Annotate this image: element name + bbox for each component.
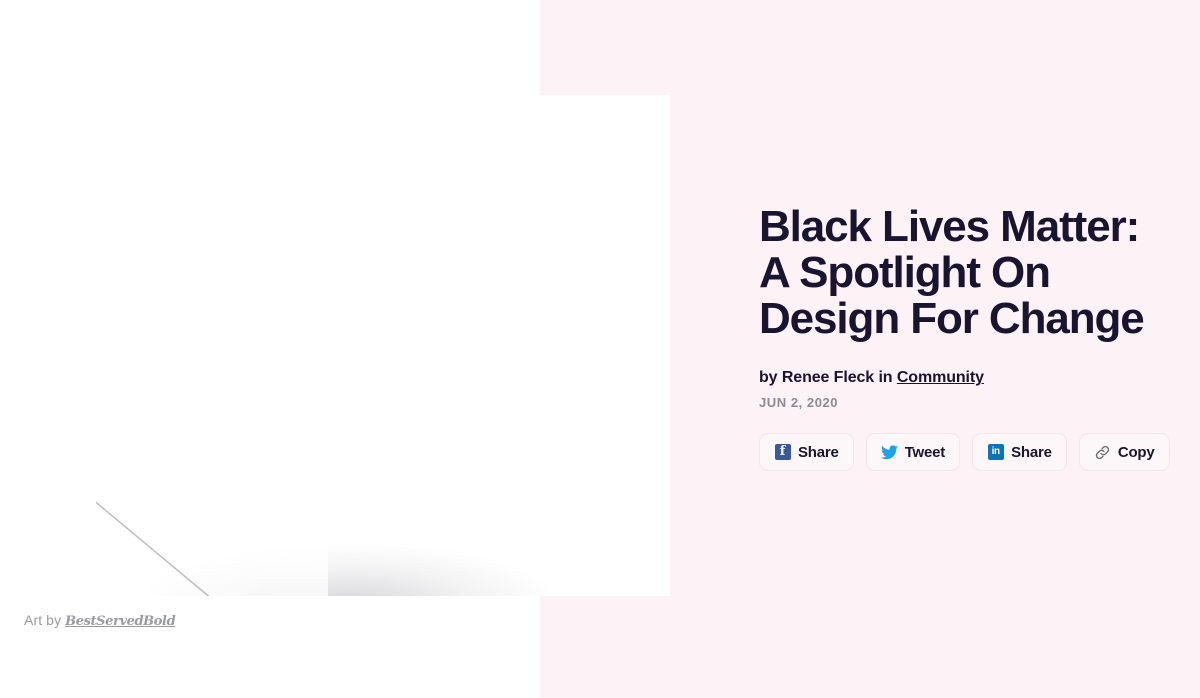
- needle-long-graphic: [96, 499, 328, 596]
- twitter-share-button[interactable]: Tweet: [866, 433, 960, 471]
- linkedin-icon: [987, 444, 1004, 461]
- article-hero-page: Art by BestServedBold Black Lives Matter…: [0, 0, 1200, 698]
- byline-author: by Renee Fleck in: [759, 369, 892, 386]
- link-icon: [1094, 444, 1111, 461]
- article-hero-figure: Art by BestServedBold: [0, 0, 670, 698]
- copy-link-button[interactable]: Copy: [1079, 433, 1170, 471]
- linkedin-share-button[interactable]: Share: [972, 433, 1067, 471]
- twitter-share-label: Tweet: [905, 444, 945, 461]
- artwork-caption: Art by BestServedBold: [24, 610, 175, 632]
- hero-artwork-image: [0, 95, 670, 596]
- copy-link-label: Copy: [1118, 444, 1155, 461]
- facebook-icon: [774, 444, 791, 461]
- linkedin-share-label: Share: [1011, 444, 1052, 461]
- facebook-share-button[interactable]: Share: [759, 433, 854, 471]
- byline: by Renee Fleck in Community: [759, 368, 1171, 388]
- publish-date: JUN 2, 2020: [759, 394, 1171, 411]
- artwork-credit-link[interactable]: BestServedBold: [65, 614, 175, 629]
- artwork-caption-prefix: Art by: [24, 612, 61, 628]
- article-meta-column: Black Lives Matter: A Spotlight On Desig…: [759, 204, 1171, 471]
- page-title: Black Lives Matter: A Spotlight On Desig…: [759, 204, 1169, 342]
- twitter-icon: [881, 444, 898, 461]
- category-link[interactable]: Community: [897, 369, 984, 386]
- share-button-row: Share Tweet Share: [759, 433, 1171, 471]
- facebook-share-label: Share: [798, 444, 839, 461]
